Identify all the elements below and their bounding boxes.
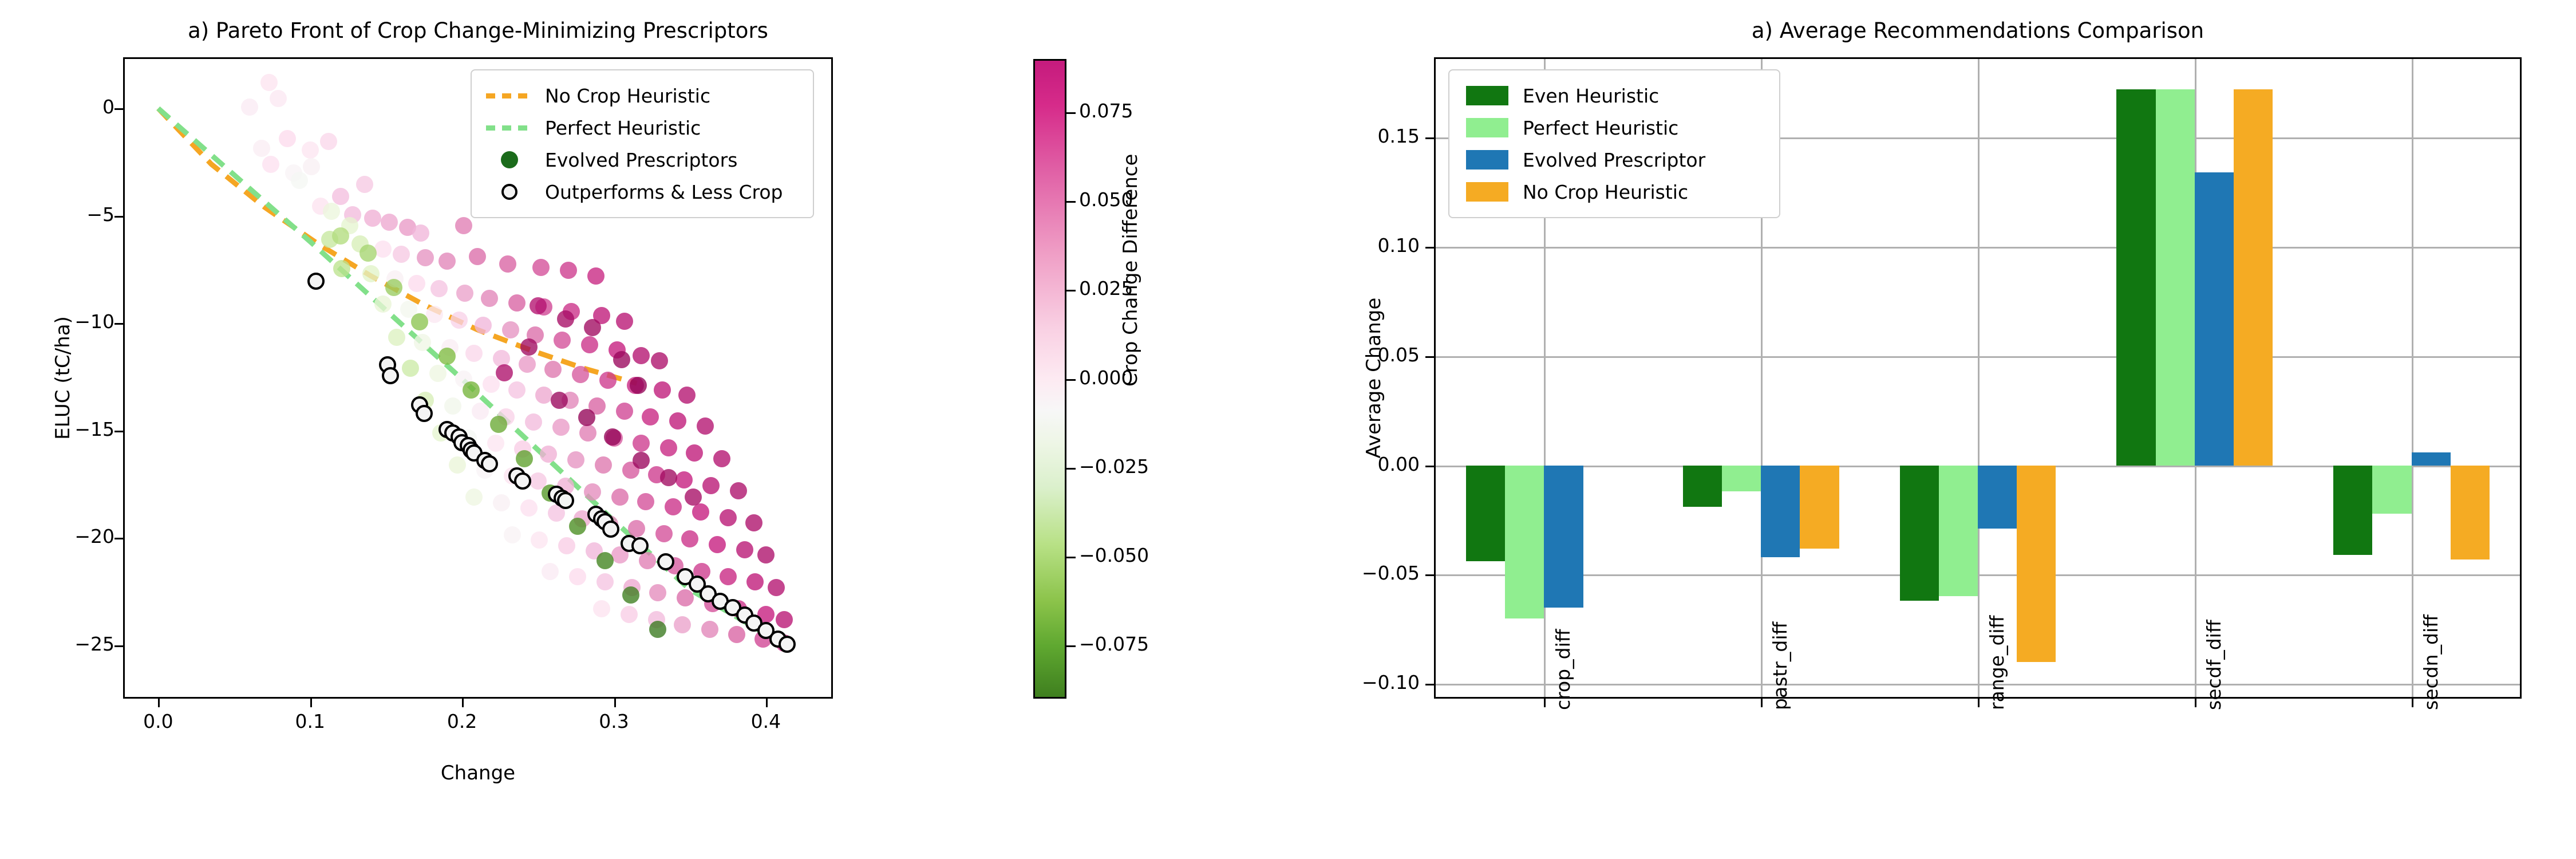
dashed-line-icon (484, 125, 535, 131)
scatter-point (483, 376, 500, 393)
gridline-vertical (1978, 59, 1980, 697)
scatter-point (417, 249, 434, 266)
colorbar-label: Crop Change Difference (1119, 154, 1142, 387)
scatter-point (455, 217, 472, 234)
colorbar-tick-mark (1066, 112, 1076, 114)
scatter-y-tick-mark (114, 538, 123, 539)
scatter-point (736, 541, 753, 558)
dashed-line-icon (484, 93, 535, 98)
bar-chart-axes: Even Heuristic Perfect Heuristic Evolved… (1434, 57, 2522, 699)
scatter-point (444, 397, 461, 415)
scatter-y-axis-label: ELUC (tC/ha) (52, 292, 74, 464)
scatter-point (449, 456, 466, 474)
hollow-circle-icon (484, 184, 535, 200)
scatter-point (599, 372, 617, 389)
scatter-point (540, 446, 557, 463)
scatter-point (642, 408, 659, 425)
bar-pastr_diff-2 (1761, 466, 1800, 557)
scatter-point (654, 381, 671, 399)
scatter-point (637, 493, 654, 510)
bar-y-tick-mark (1425, 137, 1434, 139)
color-swatch-icon (1462, 150, 1512, 170)
scatter-point (665, 498, 682, 515)
scatter-point (412, 224, 429, 242)
bar-x-tick-label-pastr_diff: pastr_diff (1769, 622, 1791, 710)
scatter-point (587, 267, 605, 285)
scatter-point (630, 377, 647, 394)
scatter-x-tick-label: 0.1 (282, 710, 339, 732)
scatter-point (581, 336, 598, 353)
legend-item-perfect-heuristic[interactable]: Perfect Heuristic (1462, 112, 1767, 144)
outperform-marker (416, 405, 433, 422)
scatter-point (558, 537, 575, 554)
scatter-point (487, 435, 504, 452)
scatter-point (393, 246, 410, 263)
legend-label: Evolved Prescriptor (1523, 149, 1705, 171)
scatter-point (408, 275, 425, 292)
colorbar-tick-label: 0.075 (1079, 100, 1133, 122)
scatter-point (525, 413, 542, 431)
colorbar-tick-mark (1066, 468, 1076, 470)
scatter-x-tick-mark (614, 699, 616, 707)
scatter-x-tick-label: 0.0 (129, 710, 187, 732)
scatter-point (359, 245, 377, 262)
bar-crop_diff-2 (1544, 466, 1583, 608)
bar-y-axis-label: Average Change (1362, 263, 1385, 492)
scatter-point (595, 456, 612, 474)
scatter-point (472, 403, 489, 420)
bar-pastr_diff-3 (1800, 466, 1839, 549)
legend-label: Even Heuristic (1523, 85, 1659, 107)
scatter-point (465, 488, 483, 506)
colorbar-tick-mark (1066, 557, 1076, 558)
scatter-point (356, 176, 373, 193)
scatter-point (279, 130, 296, 147)
scatter-point (660, 469, 677, 486)
scatter-point (323, 203, 340, 220)
scatter-y-tick-mark (114, 108, 123, 110)
bar-y-tick-label: −0.05 (1357, 562, 1420, 584)
scatter-point (709, 536, 726, 553)
bar-range_diff-1 (1939, 466, 1978, 597)
scatter-point (596, 573, 614, 590)
scatter-point (302, 141, 319, 159)
scatter-point (611, 488, 629, 506)
color-swatch-icon (1462, 86, 1512, 105)
scatter-point (621, 606, 638, 623)
legend-item-outperforms-less-crop[interactable]: Outperforms & Less Crop (484, 176, 800, 208)
scatter-y-tick-label: −5 (57, 203, 114, 226)
scatter-point (579, 424, 596, 442)
scatter-point (692, 503, 709, 521)
colorbar-tick-label: −0.025 (1079, 455, 1149, 478)
scatter-point (496, 364, 513, 381)
scatter-point (746, 573, 764, 590)
scatter-point (332, 188, 349, 205)
legend-item-perfect-heuristic[interactable]: Perfect Heuristic (484, 112, 800, 144)
scatter-point (303, 158, 320, 175)
scatter-point (697, 417, 714, 435)
scatter-point (438, 253, 456, 270)
scatter-x-tick-mark (158, 699, 160, 707)
scatter-point (481, 290, 498, 307)
bar-x-tick-mark (1761, 699, 1763, 707)
outperform-marker (514, 472, 531, 490)
colorbar-tick-mark (1066, 645, 1076, 647)
scatter-x-axis-label: Change (123, 762, 833, 785)
colorbar-tick-label: −0.050 (1079, 544, 1149, 566)
legend-item-evolved-prescriptors[interactable]: Evolved Prescriptors (484, 144, 800, 176)
scatter-point (364, 210, 381, 227)
scatter-x-tick-label: 0.4 (737, 710, 795, 732)
scatter-point (728, 626, 745, 643)
scatter-point (572, 366, 589, 383)
scatter-point (260, 74, 278, 91)
scatter-point (414, 334, 431, 351)
scatter-point (519, 356, 536, 373)
color-swatch-icon (1462, 182, 1512, 202)
left-plot-title: a) Pareto Front of Crop Change-Minimizin… (123, 18, 833, 43)
bar-secdn_diff-2 (2412, 452, 2451, 466)
scatter-y-tick-mark (114, 216, 123, 218)
outperform-marker (657, 553, 674, 570)
bar-y-tick-mark (1425, 574, 1434, 576)
scatter-point (567, 451, 584, 468)
color-swatch-icon (1462, 118, 1512, 137)
bar-secdf_diff-1 (2156, 89, 2195, 465)
scatter-point (508, 381, 526, 399)
scatter-point (535, 387, 552, 404)
scatter-y-tick-label: 0 (57, 96, 114, 118)
scatter-point (584, 319, 601, 336)
legend-label: No Crop Heuristic (545, 85, 710, 107)
scatter-point (411, 313, 428, 330)
scatter-point (332, 227, 349, 245)
bar-x-tick-mark (1544, 699, 1546, 707)
scatter-x-tick-label: 0.3 (586, 710, 643, 732)
scatter-point (616, 403, 633, 420)
scatter-point (532, 259, 550, 276)
bar-pastr_diff-1 (1722, 466, 1761, 492)
scatter-point (685, 488, 702, 506)
scatter-point (551, 392, 568, 409)
scatter-point (720, 568, 737, 585)
bar-y-tick-mark (1425, 684, 1434, 685)
legend-item-evolved-prescriptor[interactable]: Evolved Prescriptor (1462, 144, 1767, 176)
bar-legend: Even Heuristic Perfect Heuristic Evolved… (1448, 69, 1780, 218)
scatter-point (508, 294, 526, 312)
legend-label: No Crop Heuristic (1523, 181, 1688, 203)
scatter-point (584, 483, 601, 501)
scatter-legend: No Crop Heuristic Perfect Heuristic Evol… (471, 69, 814, 218)
scatter-point (569, 568, 586, 585)
scatter-point (633, 347, 650, 364)
scatter-point (385, 279, 402, 296)
scatter-point (270, 90, 287, 107)
scatter-point (669, 412, 686, 429)
scatter-point (686, 444, 703, 462)
scatter-point (426, 306, 443, 323)
scatter-point (291, 172, 308, 189)
scatter-point (776, 611, 793, 628)
scatter-point (502, 321, 519, 338)
scatter-y-tick-mark (114, 431, 123, 432)
bar-secdf_diff-0 (2116, 89, 2155, 465)
scatter-point (660, 439, 677, 456)
scatter-point (701, 621, 718, 638)
legend-label: Evolved Prescriptors (545, 149, 737, 171)
scatter-point (622, 586, 639, 604)
scatter-point (362, 265, 380, 282)
bar-x-tick-mark (2412, 699, 2413, 707)
scatter-point (429, 365, 447, 382)
colorbar-gradient (1033, 59, 1066, 699)
scatter-point (730, 482, 747, 499)
scatter-point (531, 531, 548, 549)
scatter-point (677, 589, 694, 606)
scatter-point (241, 98, 258, 116)
outperform-marker (602, 521, 619, 538)
scatter-x-tick-mark (462, 699, 464, 707)
bar-crop_diff-1 (1505, 466, 1544, 618)
bar-secdn_diff-1 (2372, 466, 2411, 514)
scatter-point (675, 471, 693, 488)
scatter-point (475, 317, 492, 334)
scatter-point (451, 312, 468, 329)
scatter-point (490, 416, 507, 433)
scatter-point (613, 351, 630, 368)
scatter-point (578, 409, 595, 426)
figure-canvas: a) Pareto Front of Crop Change-Minimizin… (0, 0, 2576, 859)
bar-crop_diff-0 (1466, 466, 1505, 562)
colorbar-tick-mark (1066, 379, 1076, 381)
scatter-point (456, 285, 473, 302)
scatter-point (530, 297, 547, 314)
scatter-point (520, 499, 538, 517)
scatter-point (604, 428, 621, 446)
scatter-point (493, 494, 510, 511)
outperform-marker (631, 537, 649, 554)
scatter-point (374, 295, 392, 313)
scatter-point (616, 313, 633, 330)
scatter-point (674, 616, 691, 633)
scatter-y-tick-mark (114, 645, 123, 647)
filled-circle-icon (484, 151, 535, 168)
bar-range_diff-3 (2017, 466, 2056, 662)
scatter-point (520, 338, 538, 356)
outperform-marker (481, 455, 498, 472)
scatter-point (560, 262, 577, 279)
scatter-point (499, 255, 516, 273)
scatter-point (720, 509, 737, 526)
right-panel: a) Average Recommendations Comparison Ev… (1288, 0, 2576, 859)
bar-x-tick-label-crop_diff: crop_diff (1552, 629, 1574, 710)
scatter-y-tick-label: −20 (57, 525, 114, 547)
scatter-point (554, 332, 571, 349)
bar-secdf_diff-2 (2195, 172, 2234, 465)
scatter-point (633, 452, 650, 469)
scatter-point (596, 552, 614, 569)
scatter-point (463, 381, 480, 399)
scatter-point (381, 214, 398, 231)
outperform-marker (307, 273, 325, 290)
scatter-point (438, 348, 456, 365)
scatter-point (430, 280, 448, 297)
bar-x-tick-label-range_diff: range_diff (1986, 616, 2008, 710)
scatter-point (757, 546, 775, 564)
colorbar-tick-label: −0.075 (1079, 633, 1149, 655)
scatter-point (681, 530, 698, 547)
bar-x-tick-label-secdf_diff: secdf_diff (2203, 620, 2225, 710)
bar-secdn_diff-0 (2333, 466, 2372, 555)
bar-y-tick-label: 0.15 (1357, 125, 1420, 147)
scatter-y-tick-label: −25 (57, 633, 114, 655)
colorbar-tick-mark (1066, 201, 1076, 203)
scatter-point (552, 419, 570, 436)
scatter-point (544, 361, 562, 378)
scatter-point (388, 329, 405, 346)
bar-y-tick-label: 0.10 (1357, 234, 1420, 257)
scatter-point (713, 450, 730, 467)
bar-y-tick-label: −0.10 (1357, 671, 1420, 693)
bar-secdf_diff-3 (2234, 89, 2273, 465)
bar-range_diff-2 (1978, 466, 2017, 529)
scatter-point (678, 387, 696, 404)
scatter-point (633, 435, 650, 452)
scatter-point (655, 525, 673, 542)
scatter-point (628, 520, 645, 537)
legend-label: Perfect Heuristic (545, 117, 701, 139)
scatter-point (262, 156, 279, 173)
scatter-point (465, 345, 483, 362)
left-panel: a) Pareto Front of Crop Change-Minimizin… (0, 0, 1288, 859)
scatter-point (542, 563, 559, 580)
scatter-x-tick-mark (766, 699, 768, 707)
scatter-point (469, 248, 486, 265)
scatter-axes: No Crop Heuristic Perfect Heuristic Evol… (123, 57, 833, 699)
outperform-marker (557, 492, 574, 509)
scatter-point (593, 600, 610, 617)
bar-pastr_diff-0 (1683, 466, 1722, 507)
scatter-point (320, 133, 337, 150)
right-plot-title: a) Average Recommendations Comparison (1434, 18, 2522, 43)
legend-item-even-heuristic[interactable]: Even Heuristic (1462, 80, 1767, 112)
scatter-y-tick-mark (114, 323, 123, 325)
outperform-marker (779, 636, 796, 653)
legend-label: Perfect Heuristic (1523, 117, 1678, 139)
scatter-point (639, 552, 656, 569)
scatter-point (557, 310, 574, 328)
scatter-point (649, 621, 666, 638)
bar-y-tick-mark (1425, 247, 1434, 249)
scatter-point (649, 584, 666, 601)
scatter-point (768, 579, 785, 596)
scatter-point (374, 241, 392, 258)
outperform-marker (382, 367, 399, 384)
bar-x-tick-mark (1978, 699, 1980, 707)
legend-item-no-crop-heuristic[interactable]: No Crop Heuristic (484, 80, 800, 112)
scatter-point (651, 352, 668, 369)
scatter-point (702, 477, 720, 494)
scatter-point (745, 514, 762, 531)
scatter-point (569, 518, 586, 535)
bar-x-tick-mark (2195, 699, 2196, 707)
bar-secdn_diff-3 (2451, 466, 2490, 559)
bar-y-tick-mark (1425, 466, 1434, 467)
scatter-point (253, 140, 270, 157)
scatter-point (516, 450, 533, 467)
gridline-vertical (2412, 59, 2413, 697)
colorbar-tick-mark (1066, 290, 1076, 291)
bar-x-tick-label-secdn_diff: secdn_diff (2420, 614, 2442, 710)
scatter-point (504, 526, 521, 543)
scatter-point (333, 260, 350, 277)
legend-label: Outperforms & Less Crop (545, 181, 783, 203)
bar-y-tick-mark (1425, 356, 1434, 358)
scatter-x-tick-mark (310, 699, 312, 707)
scatter-x-tick-label: 0.2 (433, 710, 491, 732)
legend-item-no-crop-heuristic[interactable]: No Crop Heuristic (1462, 176, 1767, 208)
scatter-point (402, 360, 419, 377)
bar-range_diff-0 (1900, 466, 1939, 601)
